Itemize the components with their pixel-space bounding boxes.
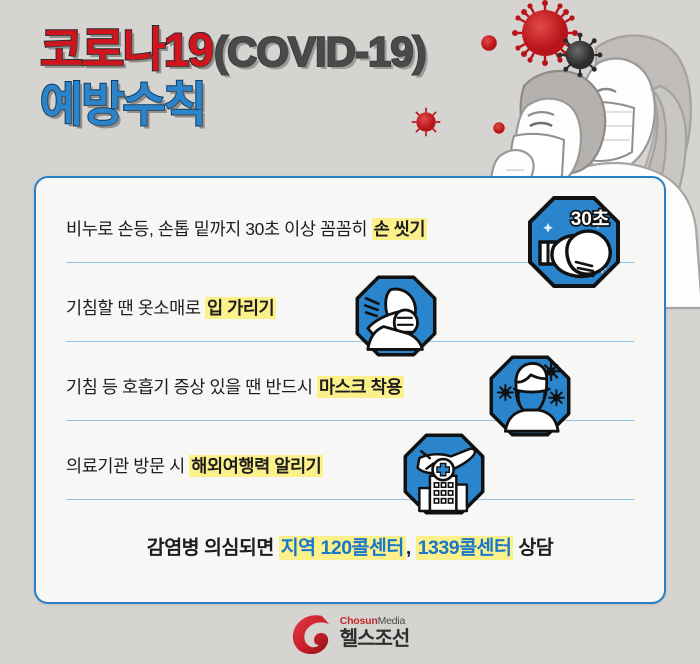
brand-text: ChosunMedia 헬스조선 [340,616,410,649]
tip-text-wear-mask: 기침 등 호흡기 증상 있을 땐 반드시 마스크 착용 [66,374,404,399]
medical-cross-icon [433,459,454,480]
title-line-1: 코로나19 (COVID-19) [40,26,426,73]
tip-text-cover-mouth: 기침할 땐 옷소매로 입 가리기 [66,295,276,320]
tip-highlight: 마스크 착용 [317,376,404,398]
tip-text-plain: 의료기관 방문 시 [66,456,189,476]
tip-row-cover-mouth: 기침할 땐 옷소매로 입 가리기 [66,281,634,360]
tip-text-plain: 기침 등 호흡기 증상 있을 땐 반드시 [66,377,317,397]
covid-prevention-poster: 코로나19 (COVID-19) 예방수칙 비누로 손등, 손톱 밑까지 30초… [0,0,700,664]
tip-divider [66,341,634,342]
call-center-text-before: 감염병 의심되면 [147,537,279,559]
call-center-text-after: 상담 [513,537,553,559]
call-center-local-120: 지역 120콜센터 [279,536,406,560]
brand-english: ChosunMedia [340,616,410,627]
hospital-airplane-icon [400,430,488,518]
tip-highlight: 해외여행력 알리기 [189,455,323,477]
tip-highlight: 입 가리기 [205,297,276,319]
brand-english-bold: Chosun [340,615,378,627]
tip-highlight: 손 씻기 [372,218,428,240]
title-line-2: 예방수칙 [40,81,426,128]
hand-washing-icon: 30초 [524,192,624,292]
call-center-banner: 감염병 의심되면 지역 120콜센터, 1339콜센터 상담 [36,531,664,560]
tip-text-hand-washing: 비누로 손등, 손톱 밑까지 30초 이상 꼼꼼히 손 씻기 [66,216,427,241]
tip-divider [66,499,634,500]
brand-korean: 헬스조선 [340,629,410,650]
call-center-1339: 1339콜센터 [416,536,514,560]
cough-sleeve-icon [352,272,440,360]
brand-english-light: Media [378,615,406,627]
tip-text-plain: 기침할 땐 옷소매로 [66,298,205,318]
tip-text-report-travel: 의료기관 방문 시 해외여행력 알리기 [66,453,323,478]
virus-particle [512,0,578,66]
virus-particle [558,33,603,78]
tip-text-plain: 비누로 손등, 손톱 밑까지 30초 이상 꼼꼼히 [66,219,372,239]
chosun-c-mark-icon [291,612,331,654]
title-english: (COVID-19) [214,31,426,73]
face-mask-icon [486,352,574,440]
title-korean-subtitle: 예방수칙 [40,81,205,128]
title-korean-main: 코로나19 [40,26,212,73]
virus-particle [493,122,504,133]
call-center-separator: , [406,537,416,559]
brand-logo: ChosunMedia 헬스조선 [0,612,700,654]
poster-header: 코로나19 (COVID-19) 예방수칙 [40,26,426,128]
tip-row-report-travel: 의료기관 방문 시 해외여행력 알리기 [66,439,634,518]
hand-washing-duration-label: 30초 [571,208,610,230]
virus-particle [481,35,497,51]
